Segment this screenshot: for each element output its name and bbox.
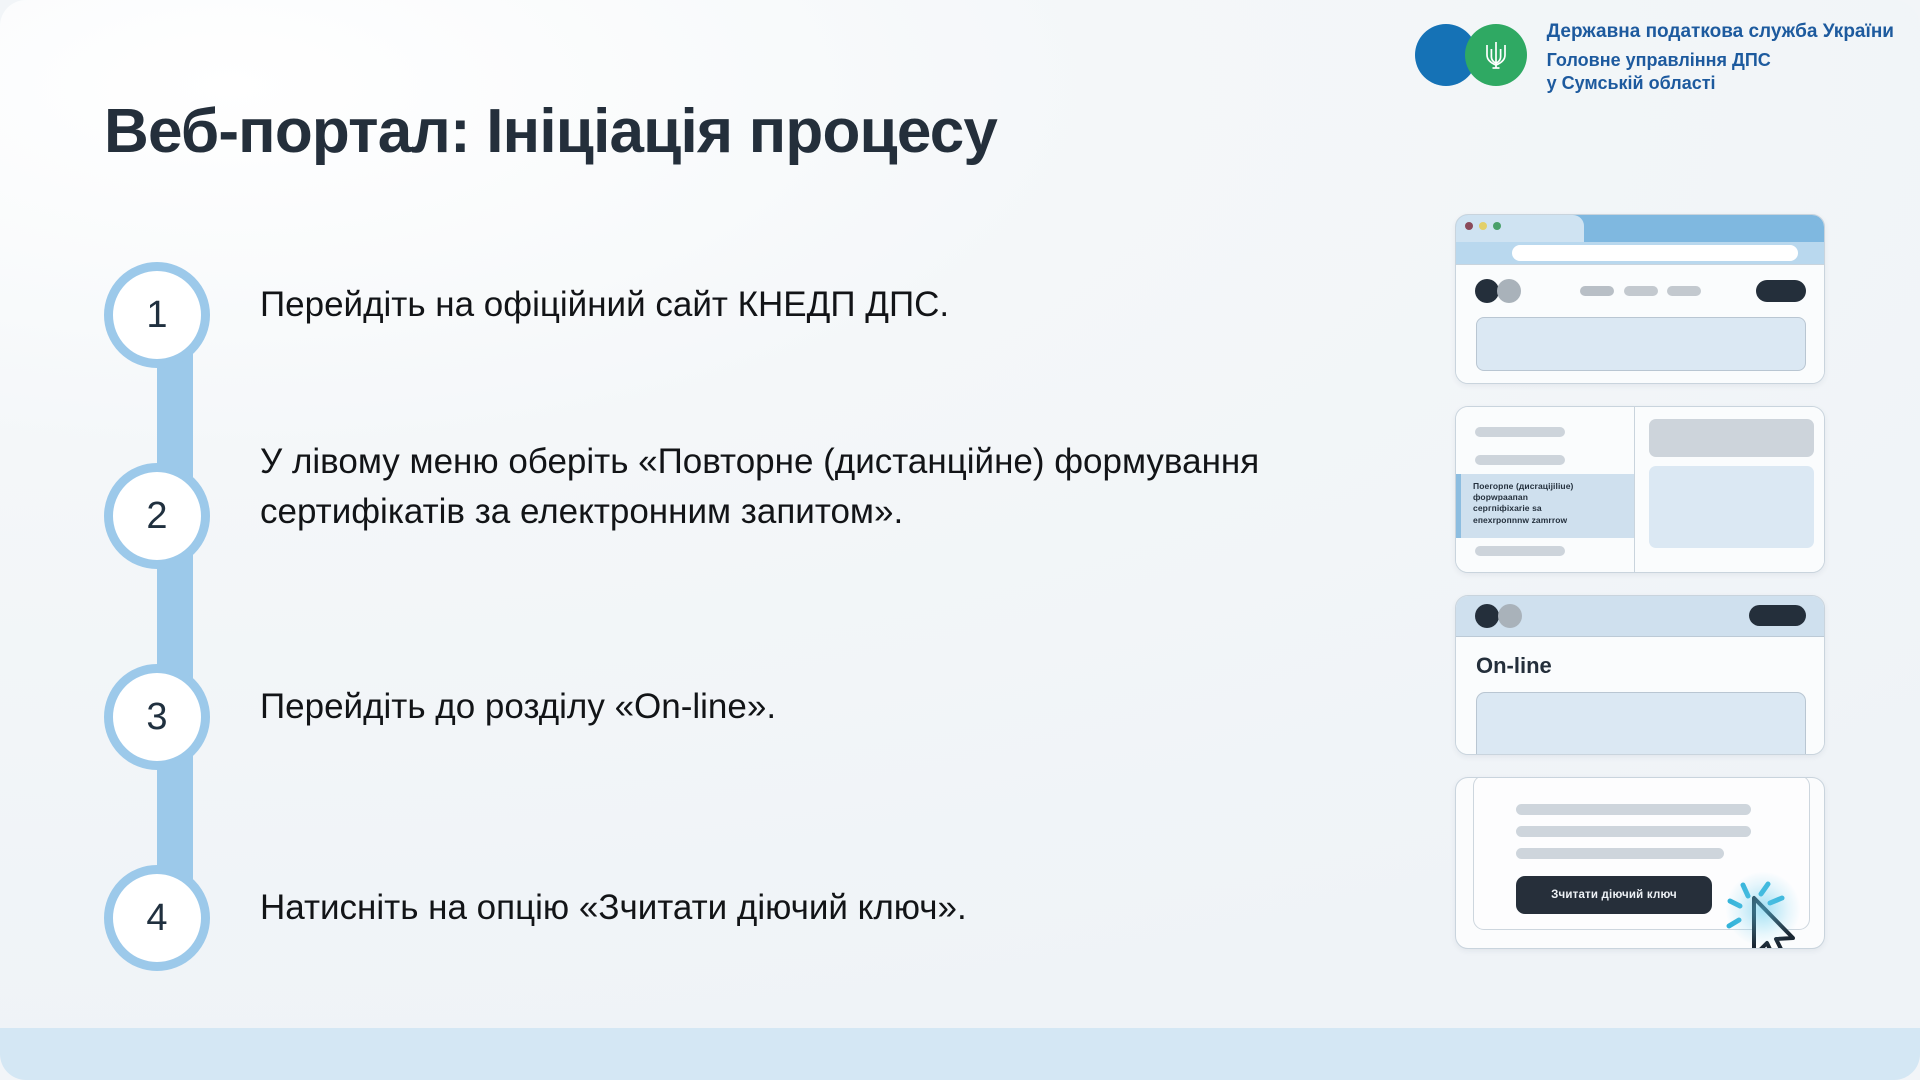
click-cursor-illustration [1696, 854, 1816, 949]
step-item: 4 Натисніть на опцію «Зчитати діючий клю… [104, 865, 1304, 971]
online-section-mockup: On-line [1455, 595, 1825, 755]
step-number-badge: 2 [104, 463, 210, 569]
site-nav-row [1456, 279, 1824, 305]
step-number-badge: 3 [104, 664, 210, 770]
menu-item-placeholder [1475, 455, 1565, 465]
step-number-badge: 1 [104, 262, 210, 368]
green-circle-icon [1465, 24, 1527, 86]
content-block-placeholder [1649, 466, 1814, 548]
organization-logo: Державна податкова служба України Головн… [1415, 16, 1894, 95]
content-panel-placeholder [1476, 317, 1806, 371]
nav-link-placeholder [1667, 286, 1701, 296]
brand-line-2: Головне управління ДПС [1547, 49, 1894, 72]
maximize-dot-icon [1493, 222, 1501, 230]
nav-link-placeholder [1580, 286, 1614, 296]
logo-dot-icon [1475, 604, 1499, 628]
sidebar-menu-panel: Поегорпе (дисrацijiliue) фоpwраапаn серг… [1456, 407, 1635, 572]
logo-dot-secondary-icon [1498, 604, 1522, 628]
online-heading: On-line [1476, 653, 1552, 679]
trident-icon [1482, 38, 1510, 72]
content-block-placeholder [1649, 419, 1814, 457]
url-input-placeholder [1512, 245, 1798, 261]
browser-address-bar [1456, 242, 1824, 264]
logo-marks [1415, 16, 1533, 84]
steps-list: 1 Перейдіть на офіційний сайт КНЕДП ДПС.… [104, 262, 1304, 971]
step-item: 1 Перейдіть на офіційний сайт КНЕДП ДПС. [104, 262, 1304, 368]
text-line-placeholder [1516, 848, 1724, 859]
browser-window-mockup [1455, 214, 1825, 384]
bottom-accent-band [0, 1028, 1920, 1080]
read-active-key-button[interactable]: Зчитати діючий ключ [1516, 876, 1712, 914]
menu-item-placeholder [1475, 427, 1565, 437]
browser-viewport [1456, 264, 1824, 384]
read-key-mockup: Зчитати діючий ключ [1455, 777, 1825, 949]
left-menu-mockup: Поегорпе (дисrацijiliue) фоpwраапаn серг… [1455, 406, 1825, 573]
highlighted-item-line: фоpwраапаn [1473, 492, 1634, 503]
step-text: Натисніть на опцію «Зчитати діючий ключ»… [260, 865, 967, 933]
step-connector-rail [157, 314, 193, 924]
nav-link-placeholder [1624, 286, 1658, 296]
step-number-badge: 4 [104, 865, 210, 971]
step-text: У лівому меню оберіть «Повторне (дистанц… [260, 437, 1300, 536]
step-text: Перейдіть до розділу «On-line». [260, 664, 776, 732]
mockup-header-bar [1456, 596, 1824, 637]
sidebar-item-highlighted: Поегорпе (дисrацijiliue) фоpwраапаn серг… [1456, 474, 1634, 538]
slide-root: Державна податкова служба України Головн… [0, 0, 1920, 1080]
menu-item-placeholder [1475, 546, 1565, 556]
highlighted-item-line: Поегорпе (дисrацijiliue) [1473, 481, 1634, 492]
logo-dot-icon [1475, 279, 1499, 303]
brand-line-1: Державна податкова служба України [1547, 20, 1894, 45]
header-action-button-placeholder [1749, 605, 1806, 626]
page-title: Веб-портал: Ініціація процесу [104, 96, 997, 167]
traffic-light-dots [1465, 222, 1501, 230]
step-item: 3 Перейдіть до розділу «On-line». [104, 664, 1304, 770]
text-line-placeholder [1516, 826, 1751, 837]
content-area-panel [1635, 407, 1824, 572]
browser-titlebar [1456, 215, 1824, 242]
logo-text-block: Державна податкова служба України Головн… [1547, 16, 1894, 95]
brand-line-3: у Сумській області [1547, 72, 1894, 95]
minimize-dot-icon [1479, 222, 1487, 230]
mockup-column: Поегорпе (дисrацijiliue) фоpwраапаn серг… [1455, 214, 1825, 971]
highlighted-item-line: сергпіфіхаrie sa [1473, 503, 1634, 514]
highlighted-item-line: епехrропnnw zamrrow [1473, 515, 1634, 526]
nav-action-button-placeholder [1756, 280, 1806, 302]
close-dot-icon [1465, 222, 1473, 230]
step-text: Перейдіть на офіційний сайт КНЕДП ДПС. [260, 262, 949, 330]
click-glow [1726, 872, 1800, 946]
text-line-placeholder [1516, 804, 1751, 815]
content-panel-placeholder [1476, 692, 1806, 755]
logo-dot-secondary-icon [1497, 279, 1521, 303]
mockup-body: On-line [1456, 637, 1824, 754]
step-item: 2 У лівому меню оберіть «Повторне (диста… [104, 463, 1304, 569]
